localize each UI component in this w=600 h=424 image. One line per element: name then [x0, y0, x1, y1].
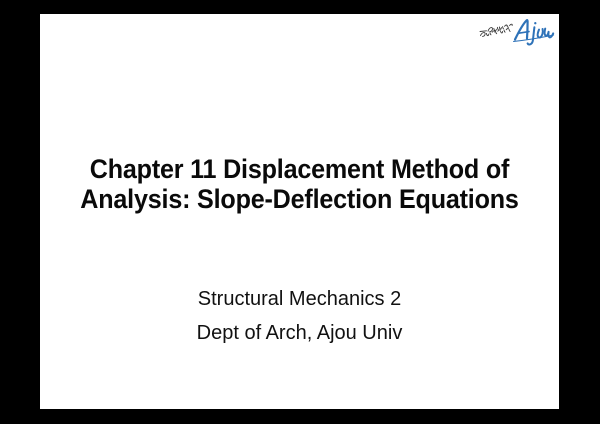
ajou-university-logo — [477, 16, 555, 48]
presentation-viewer: Chapter 11 Displacement Method of Analys… — [0, 0, 600, 424]
slide-title-line-2: Analysis: Slope-Deflection Equations — [58, 184, 541, 214]
slide-subtitle-line-1: Structural Mechanics 2 — [40, 282, 559, 316]
slide-title: Chapter 11 Displacement Method of Analys… — [40, 154, 559, 214]
slide-title-line-1: Chapter 11 Displacement Method of — [58, 154, 541, 184]
slide-subtitle-line-2: Dept of Arch, Ajou Univ — [40, 316, 559, 350]
logo-artwork — [477, 16, 555, 48]
slide-subtitle: Structural Mechanics 2 Dept of Arch, Ajo… — [40, 282, 559, 350]
slide-canvas: Chapter 11 Displacement Method of Analys… — [40, 14, 559, 409]
